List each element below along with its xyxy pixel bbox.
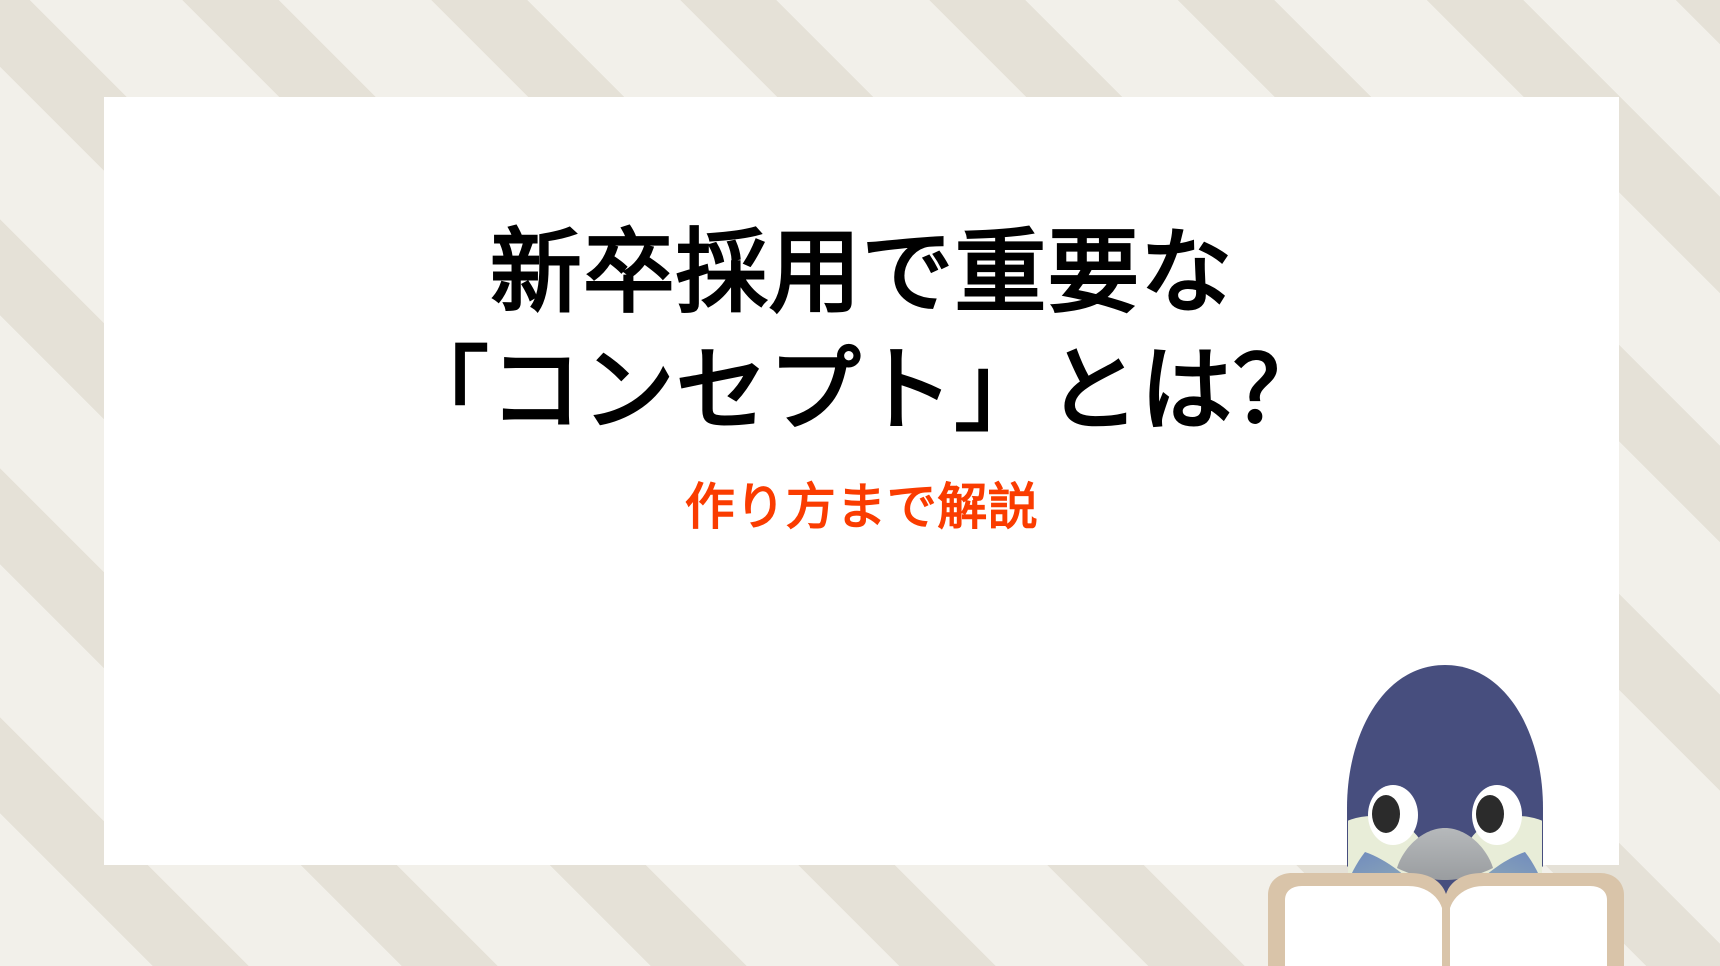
page-title-line-1: 新卒採用で重要な (490, 215, 1233, 333)
hero-text-block: 新卒採用で重要な 「コンセプト」とは？ 作り方まで解説 (104, 97, 1619, 597)
slide-canvas: 新卒採用で重要な 「コンセプト」とは？ 作り方まで解説 (0, 0, 1720, 966)
page-title-line-2: 「コンセプト」とは？ (397, 333, 1326, 451)
page-subtitle: 作り方まで解説 (685, 477, 1039, 537)
